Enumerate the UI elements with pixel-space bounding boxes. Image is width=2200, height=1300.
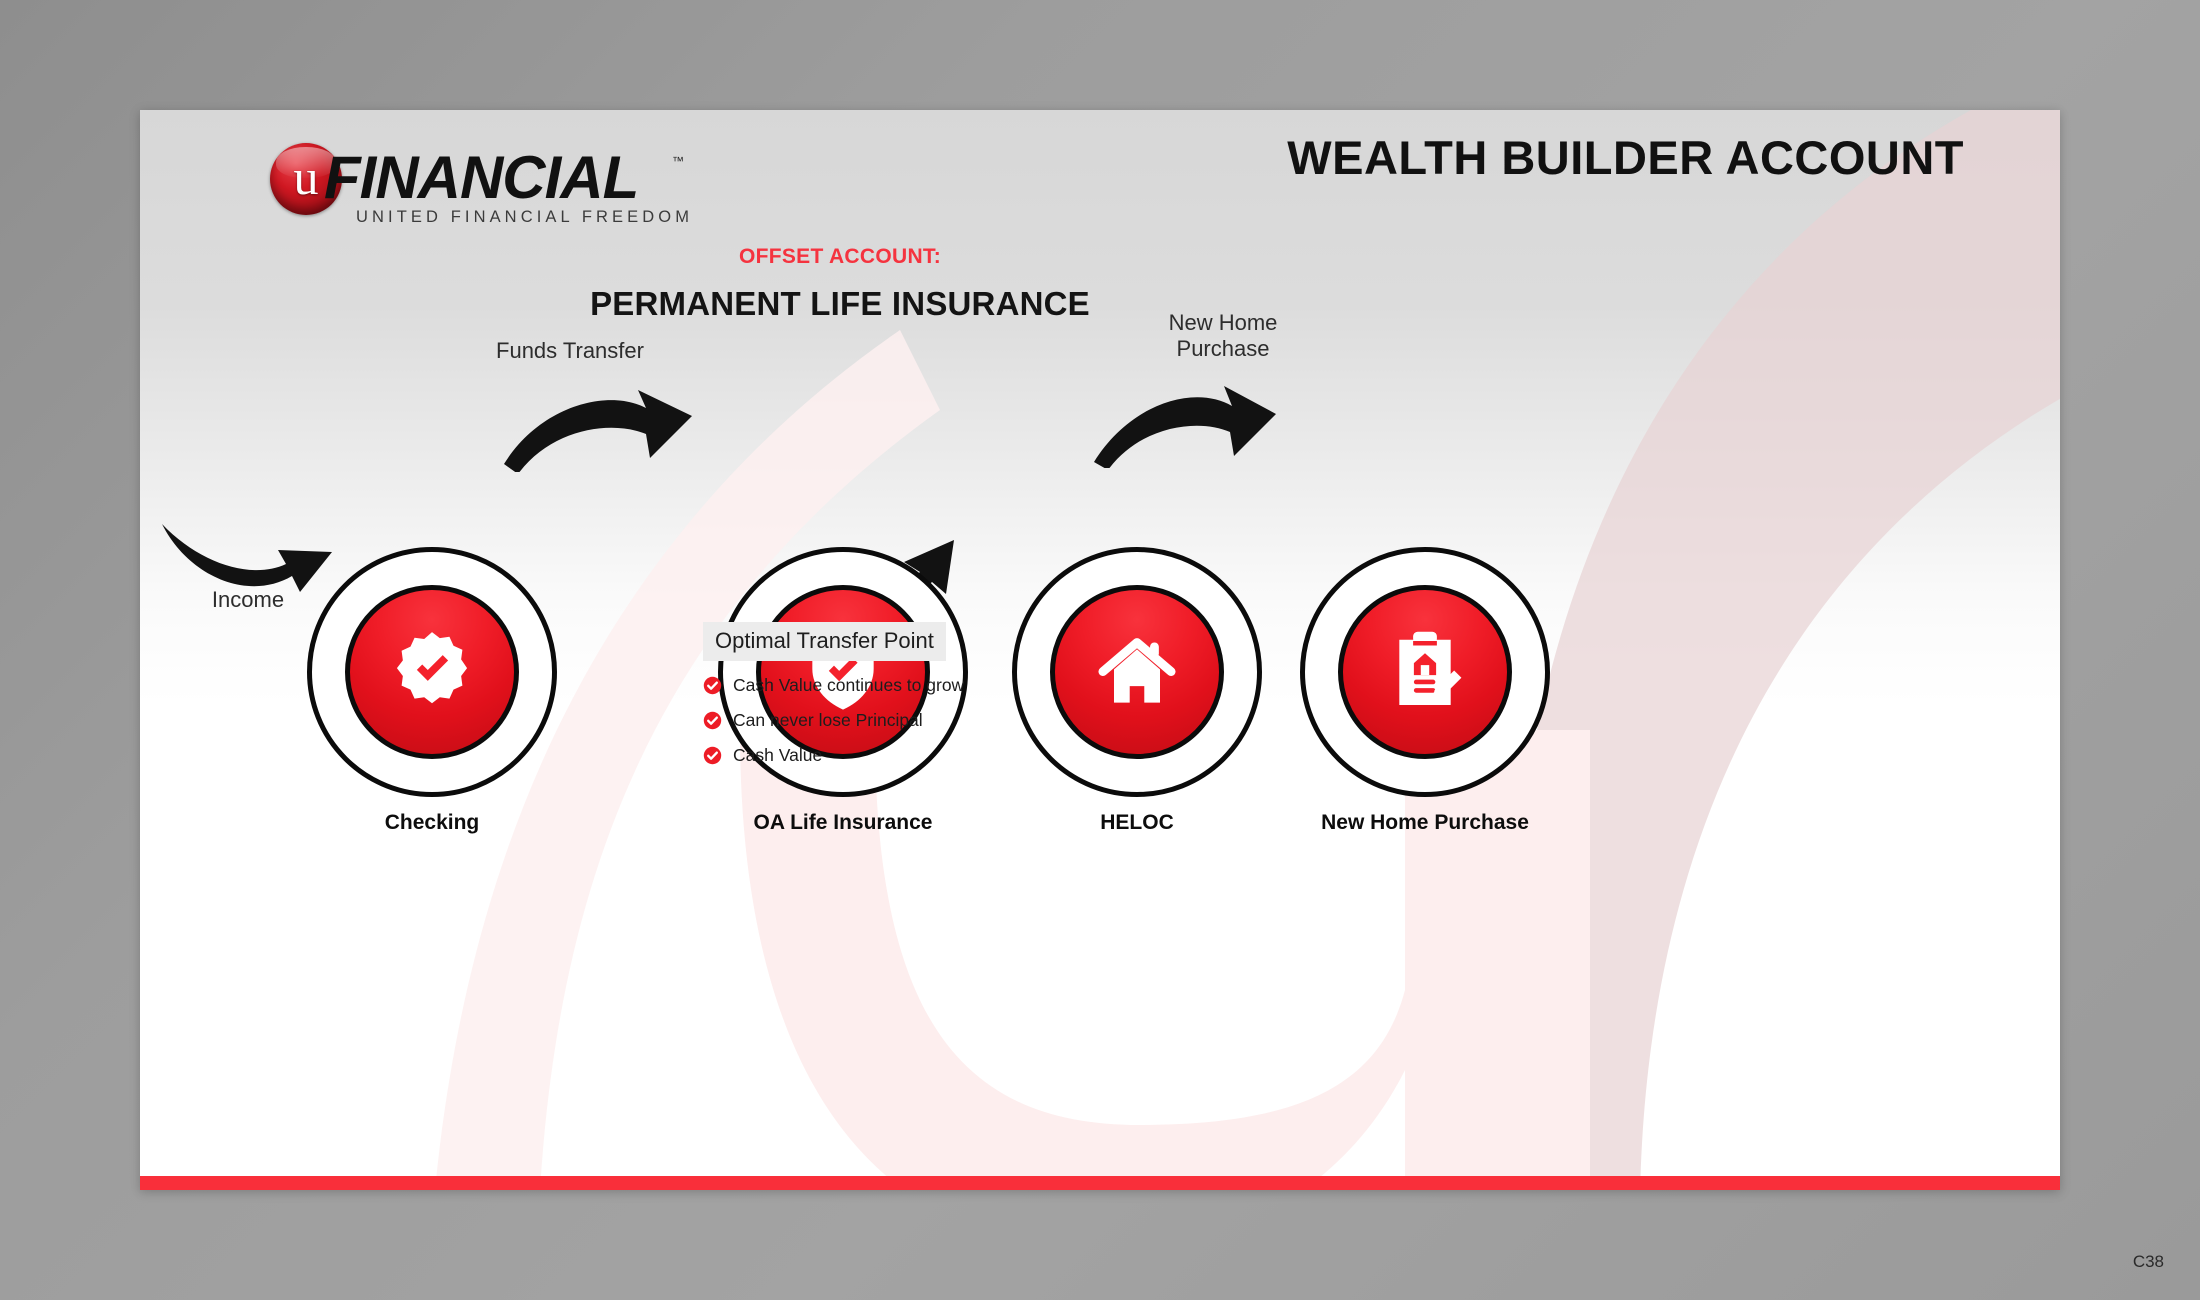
footer-accent-bar xyxy=(140,1176,2060,1190)
clipboard-house-pencil-icon xyxy=(1379,626,1471,718)
node-circle-checking[interactable] xyxy=(307,547,557,797)
node-label-heloc: HELOC xyxy=(1012,811,1262,835)
logo-badge-letter: u xyxy=(270,143,342,215)
logo-badge-icon: u xyxy=(270,143,342,215)
node-inner-new-home-purchase xyxy=(1338,585,1512,759)
list-item: Can never lose Principal xyxy=(703,710,1103,731)
badge-check-icon xyxy=(386,626,478,718)
logo-trademark-symbol: ™ xyxy=(672,154,684,168)
arrow-funds-transfer-icon xyxy=(500,382,700,472)
node-label-oa-life-insurance: OA Life Insurance xyxy=(718,811,968,835)
house-icon xyxy=(1091,626,1183,718)
arrow-label-income: Income xyxy=(168,587,328,613)
check-circle-icon xyxy=(703,676,722,695)
flow-node-new-home-purchase[interactable]: New Home Purchase xyxy=(1300,547,1550,835)
arrow-new-home-purchase-icon xyxy=(1090,378,1280,468)
product-name: PERMANENT LIFE INSURANCE xyxy=(140,285,1540,323)
logo-tagline: UNITED FINANCIAL FREEDOM xyxy=(356,208,693,227)
flow-node-checking[interactable]: Checking xyxy=(307,547,557,835)
list-item-label: Cash Value continues to grow xyxy=(733,675,964,696)
page-title: WEALTH BUILDER ACCOUNT xyxy=(1287,130,1964,185)
offset-account-label: OFFSET ACCOUNT: xyxy=(140,245,1540,269)
slide-canvas: u FINANCIAL ™ UNITED FINANCIAL FREEDOM W… xyxy=(140,110,2060,1190)
arrow-label-new-home-purchase: New Home Purchase xyxy=(1123,310,1323,362)
list-item: Cash Value xyxy=(703,745,1103,766)
list-item: Cash Value continues to grow xyxy=(703,675,1103,696)
logo-wordmark: FINANCIAL xyxy=(324,148,638,208)
list-item-label: Can never lose Principal xyxy=(733,710,923,731)
subtitle-block: OFFSET ACCOUNT: PERMANENT LIFE INSURANCE xyxy=(140,245,1540,323)
node-label-new-home-purchase: New Home Purchase xyxy=(1300,811,1550,835)
node-inner-checking xyxy=(345,585,519,759)
optimal-transfer-point-panel: Optimal Transfer Point Cash Value contin… xyxy=(703,622,1103,766)
arrow-label-funds-transfer: Funds Transfer xyxy=(440,338,700,364)
info-panel-title: Optimal Transfer Point xyxy=(703,622,946,661)
list-item-label: Cash Value xyxy=(733,745,822,766)
node-circle-new-home-purchase[interactable] xyxy=(1300,547,1550,797)
node-label-checking: Checking xyxy=(307,811,557,835)
slide-corner-code: C38 xyxy=(2133,1252,2164,1272)
brand-logo: u FINANCIAL ™ UNITED FINANCIAL FREEDOM xyxy=(270,140,690,230)
check-circle-icon xyxy=(703,711,722,730)
check-circle-icon xyxy=(703,746,722,765)
